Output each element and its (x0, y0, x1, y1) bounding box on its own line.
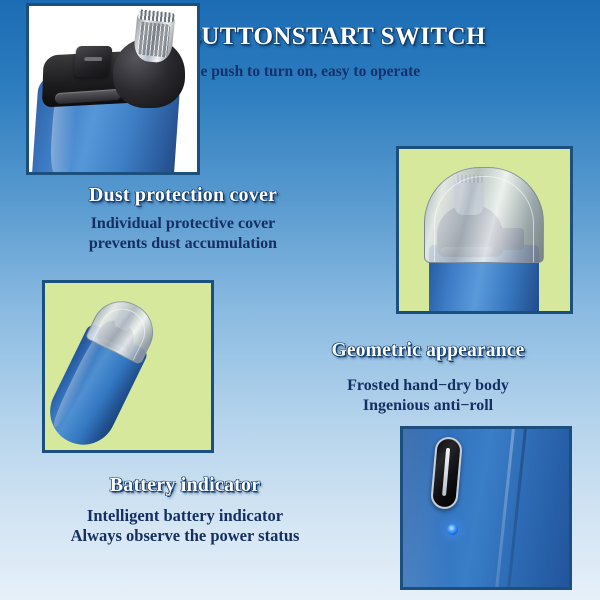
power-button-icon (430, 436, 463, 510)
feature-body-geometric-appearance: Frosted hand−dry body Ingenious anti−rol… (288, 376, 568, 415)
feature-body-battery-indicator: Intelligent battery indicator Always obs… (20, 506, 350, 546)
full-body-photo-card (42, 280, 214, 453)
power-button-photo (403, 429, 569, 587)
power-button-photo-card (400, 426, 572, 590)
dust-cover-photo (399, 149, 570, 311)
battery-indicator-led (447, 524, 458, 535)
body-seam-line (505, 426, 528, 590)
trimmer-head-photo (29, 6, 197, 172)
full-body-photo (45, 283, 211, 450)
feature-body-line: Frosted hand−dry body (288, 376, 568, 396)
dust-cover-photo-card (396, 146, 573, 314)
feature-body-line: Individual protective cover (28, 214, 338, 234)
feature-body-dust-protection-cover: Individual protective cover prevents dus… (28, 214, 338, 253)
dust-cover-dome (424, 167, 544, 263)
trimmer-head-photo-card (26, 3, 200, 175)
feature-heading-battery-indicator: Battery indicator (40, 474, 330, 497)
feature-heading-dust-protection-cover: Dust protection cover (38, 184, 328, 207)
feature-body-line: Ingenious anti−roll (288, 396, 568, 416)
feature-body-line: Intelligent battery indicator (20, 506, 350, 526)
feature-heading-geometric-appearance: Geometric appearance (288, 340, 568, 362)
power-switch-pad (73, 46, 112, 77)
feature-body-line: prevents dust accumulation (28, 234, 338, 254)
trimmer-unit (42, 290, 165, 453)
product-infographic: ONE−BUTTONSTART SWITCH One push to turn … (0, 0, 600, 600)
feature-body-line: Always observe the power status (20, 526, 350, 546)
